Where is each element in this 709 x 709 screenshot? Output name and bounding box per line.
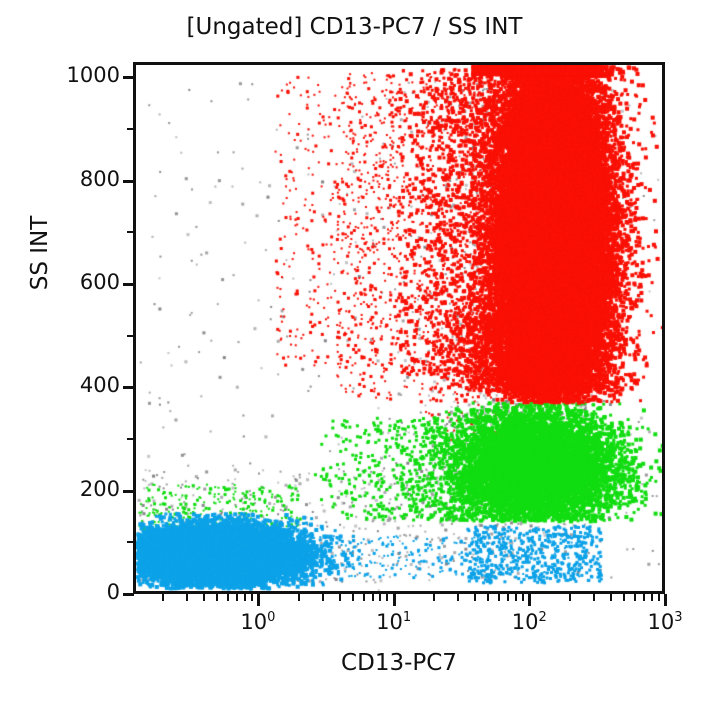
x-tick-mark-minor (162, 594, 164, 601)
x-tick-mark-minor (457, 594, 459, 601)
x-tick-mark-minor (593, 594, 595, 601)
x-tick-mark-minor (203, 594, 205, 601)
x-tick-mark-minor (487, 594, 489, 601)
x-tick-mark-minor (658, 594, 660, 601)
x-tick-mark (528, 594, 531, 606)
y-tick-label: 0 (30, 580, 120, 604)
x-tick-mark-minor (610, 594, 612, 601)
x-axis-label: CD13-PC7 (133, 650, 665, 676)
x-tick-mark-minor (474, 594, 476, 601)
x-tick-mark-minor (651, 594, 653, 601)
x-tick-mark-minor (236, 594, 238, 601)
x-tick-mark-minor (643, 594, 645, 601)
x-tick-mark-minor (522, 594, 524, 601)
x-tick-mark-minor (498, 594, 500, 601)
plot-area (133, 62, 665, 594)
x-tick-mark-minor (186, 594, 188, 601)
x-tick-mark-minor (515, 594, 517, 601)
y-tick-label: 400 (30, 373, 120, 397)
y-tick-label: 600 (30, 270, 120, 294)
x-tick-mark-minor (298, 594, 300, 601)
x-tick-mark-minor (339, 594, 341, 601)
x-tick-label: 103 (647, 610, 682, 634)
x-tick-label: 101 (376, 610, 411, 634)
x-tick-mark-minor (372, 594, 374, 601)
y-tick-label: 200 (30, 477, 120, 501)
x-tick-mark (393, 594, 396, 606)
x-tick-mark-minor (363, 594, 365, 601)
x-tick-mark-minor (623, 594, 625, 601)
x-tick-mark-minor (216, 594, 218, 601)
x-tick-mark-minor (251, 594, 253, 601)
x-tick-mark-minor (379, 594, 381, 601)
y-axis-tick-labels: 10008006004002000 (28, 0, 120, 709)
scatter-canvas (136, 65, 665, 594)
x-tick-mark-minor (507, 594, 509, 601)
x-tick-label: 102 (512, 610, 547, 634)
x-tick-mark (664, 594, 667, 606)
x-tick-mark-minor (352, 594, 354, 601)
x-tick-mark (257, 594, 260, 606)
scatter-plot-figure: [Ungated] CD13-PC7 / SS INT SS INT CD13-… (0, 0, 709, 709)
x-tick-mark-minor (227, 594, 229, 601)
y-tick-label: 1000 (30, 63, 120, 87)
x-tick-mark-minor (569, 594, 571, 601)
y-tick-label: 800 (30, 167, 120, 191)
x-tick-label: 100 (240, 610, 275, 634)
x-tick-mark-minor (634, 594, 636, 601)
x-tick-mark-minor (244, 594, 246, 601)
x-tick-mark-minor (386, 594, 388, 601)
x-tick-mark-minor (433, 594, 435, 601)
x-tick-mark-minor (322, 594, 324, 601)
